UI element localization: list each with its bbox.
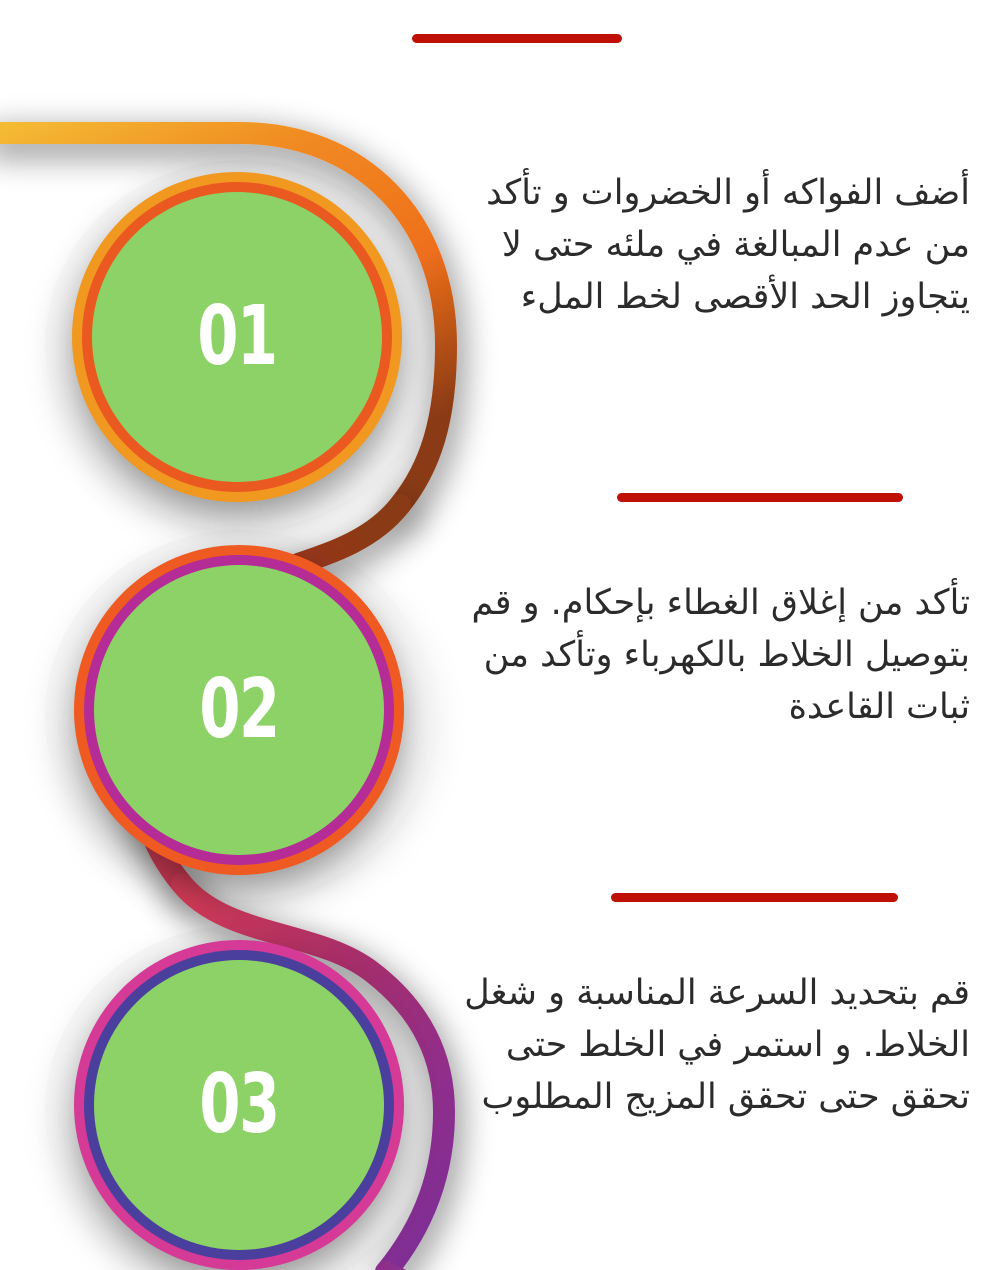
- infographic-page: 01 أضف الفواكه أو الخضروات و تأكد من عدم…: [0, 0, 1000, 1270]
- step-number-1: 01: [197, 296, 276, 378]
- divider-top: [412, 34, 622, 43]
- step-badge-fill-1: 01: [92, 192, 382, 482]
- step-number-2: 02: [199, 669, 278, 751]
- step-badge-1[interactable]: 01: [72, 172, 402, 502]
- divider-lower: [611, 893, 898, 902]
- step-badge-fill-3: 03: [94, 960, 384, 1250]
- step-badge-3[interactable]: 03: [74, 940, 404, 1270]
- step-badge-2[interactable]: 02: [74, 545, 404, 875]
- step-badge-fill-2: 02: [94, 565, 384, 855]
- step-text-2: تأكد من إغلاق الغطاء بإحكام. و قم بتوصيل…: [440, 578, 970, 733]
- step-text-1: أضف الفواكه أو الخضروات و تأكد من عدم ال…: [440, 168, 970, 323]
- divider-middle: [617, 493, 903, 502]
- step-text-3: قم بتحديد السرعة المناسبة و شغل الخلاط. …: [440, 968, 970, 1123]
- step-number-3: 03: [199, 1064, 278, 1146]
